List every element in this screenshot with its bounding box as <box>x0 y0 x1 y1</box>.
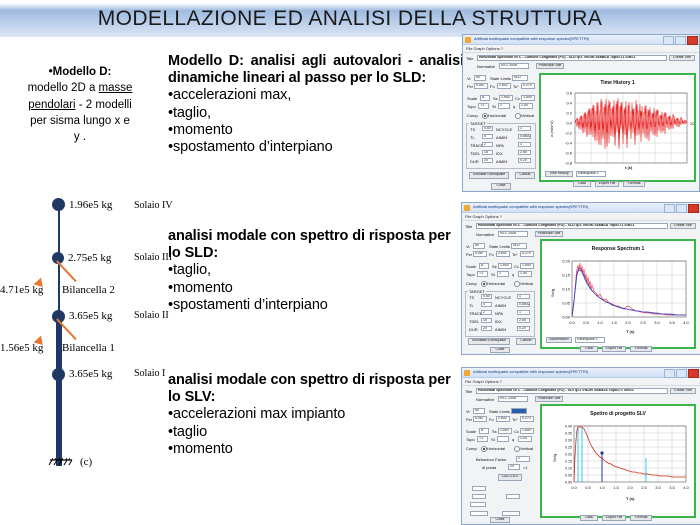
svg-text:4.0: 4.0 <box>683 320 689 325</box>
svg-text:1.0: 1.0 <box>597 320 603 325</box>
w1-param-1-input2[interactable]: 0.8502 <box>518 134 531 139</box>
w3-ss-input[interactable]: 1.500 <box>498 428 512 434</box>
w2-scale-label: Scale <box>466 264 476 269</box>
w2-formula-button[interactable]: Formula <box>630 346 652 352</box>
w1-title-field[interactable]: Horizontal Spectrum NTC - Comune Longhia… <box>477 55 667 61</box>
w1-ss-input[interactable]: 1.500 <box>499 95 513 101</box>
w3-fo-label: Fo <box>489 417 494 422</box>
w1-vr-label: Vr <box>467 76 471 81</box>
diagram-caption: (c) <box>80 456 92 468</box>
left-intro-line2-underlined: masse <box>99 82 133 94</box>
w1-param-4-label: DUR <box>470 159 479 164</box>
w3-formula-button[interactable]: Formula <box>630 515 652 521</box>
w1-export-button[interactable]: Export File <box>595 181 619 187</box>
mass-node-1 <box>52 368 65 381</box>
w3-tcstar-input[interactable]: 0.270 <box>520 416 534 422</box>
w2-param-2-input[interactable]: 2 <box>481 310 492 315</box>
block3-item-2: •taglio <box>168 424 464 441</box>
maximize-icon[interactable] <box>676 204 687 213</box>
w1-protection-site-button[interactable]: Protection Site <box>536 63 564 69</box>
w2-chart-plot: 0.200.15 0.100.050.00 0.00.51.0 1.52.02.… <box>542 241 694 347</box>
svg-text:0.15: 0.15 <box>565 459 572 463</box>
w1-state-limits-label: State Limits <box>490 76 511 81</box>
w1-param-2-input[interactable]: 2 <box>482 142 493 147</box>
w2-chart-mode-button[interactable]: Acceleration <box>546 337 572 343</box>
column-lower <box>56 314 62 466</box>
w3-topo-select[interactable]: T1 <box>477 436 488 442</box>
w1-param-0-input2[interactable]: 1 <box>518 126 531 131</box>
maximize-icon[interactable] <box>675 36 686 45</box>
w1-q-input[interactable]: 1.00 <box>519 103 533 109</box>
block2-item-2: •momento <box>168 280 460 297</box>
w3-body: Title Horizontal Spectrum NTC - Comune L… <box>462 386 700 523</box>
pendulum-mass-1: 1.56e5 kg <box>0 342 43 354</box>
w1-ag-input[interactable]: 0.067 <box>474 83 488 89</box>
block1-item-1: •accelerazioni max, <box>168 87 464 104</box>
minimize-icon[interactable] <box>664 369 675 378</box>
w2-tcstar-input[interactable]: 0.270 <box>520 251 534 257</box>
w2-x-axis-label: T (s) <box>626 329 634 334</box>
w1-topo-select[interactable]: T1 <box>478 103 489 109</box>
w1-menu-bar[interactable]: File Graph Options ? <box>463 45 699 53</box>
w3-chart-frame: Spettro di progetto SLV <box>540 404 696 518</box>
pendulum-name-2: Bilancella 2 <box>62 284 115 296</box>
w2-param-3-label: TDEL <box>469 319 479 324</box>
w3-create-title-button[interactable]: Create Title <box>670 388 696 394</box>
w2-param-4-input2[interactable]: 0.20 <box>517 326 530 331</box>
w1-param-4-input2[interactable]: 0.20 <box>518 158 531 163</box>
w3-y-axis-label: Se/g <box>552 454 557 462</box>
w1-chart-mode-button[interactable]: Time History <box>545 171 573 177</box>
w1-x-axis-label: t (s) <box>625 165 632 170</box>
w3-st-input[interactable] <box>497 436 509 442</box>
w2-vr-input[interactable]: 50 <box>473 243 485 249</box>
w3-extra-input-4[interactable] <box>470 502 486 507</box>
w1-title-text: Artificial earthquake compatible with re… <box>474 36 589 41</box>
w2-state-limits-label: State Limits <box>489 244 510 249</box>
w3-st-label: St <box>491 437 495 442</box>
svg-text:3.0: 3.0 <box>654 320 660 325</box>
w1-cancel-button[interactable]: Cancel <box>515 172 535 179</box>
w1-chart-frame: Time History 1 0.60.40.2 <box>539 73 696 182</box>
w1-normative-select[interactable]: NTC 2008 <box>499 63 529 69</box>
w3-export-button[interactable]: Export File <box>602 515 626 521</box>
w3-check-input[interactable]: 20 <box>508 464 520 470</box>
w1-param-4-input[interactable]: 20 <box>482 158 493 163</box>
pendulum-name-1: Bilancella 1 <box>62 342 115 354</box>
block3-item-1: •accelerazioni max impianto <box>168 406 464 423</box>
left-intro-line1: •Modello D: <box>4 64 156 80</box>
w2-tcstar-label: Tc* <box>512 252 518 257</box>
w3-extra-input-5[interactable] <box>470 511 488 516</box>
w2-chart-series-select[interactable]: Earthquake 1 <box>575 337 605 343</box>
svg-text:0.0: 0.0 <box>569 320 575 325</box>
w3-window-controls[interactable] <box>664 369 699 378</box>
app-icon <box>464 205 470 211</box>
w2-comp-vertical-label: Vertical <box>520 281 533 286</box>
w2-param-4-label2: AIMIN <box>495 327 506 332</box>
w2-cancel-button[interactable]: Cancel <box>516 338 536 345</box>
w3-x-axis-label: T (s) <box>626 496 634 501</box>
left-intro-line2: modello 2D a masse <box>4 80 156 96</box>
w1-state-limits-select[interactable]: SLD <box>512 75 528 81</box>
left-intro-line3-underlined: pendolari <box>28 99 75 111</box>
left-intro-line4: per sisma lungo x e <box>4 113 156 129</box>
w3-ag-label: Pvr <box>466 417 472 422</box>
w3-tcstar-label: Tc* <box>512 417 518 422</box>
w2-cc-input[interactable]: 1.500 <box>520 263 534 269</box>
w1-param-1-input[interactable]: 4 <box>482 134 493 139</box>
base-support-icon <box>48 458 74 468</box>
w1-title-bar[interactable]: Artificial earthquake compatible with re… <box>463 35 699 45</box>
w2-ss-input[interactable]: 1.500 <box>498 263 512 269</box>
analysis-block-3: analisi modale con spettro di risposta p… <box>168 372 464 458</box>
w1-fo-input[interactable]: 2.602 <box>497 83 511 89</box>
w2-param-3-input2[interactable]: 2.55 <box>517 318 530 323</box>
w1-window-controls[interactable] <box>663 36 698 45</box>
w2-ag-label: Pvr <box>466 252 472 257</box>
floor-label-2: Solaio II <box>134 310 169 321</box>
w1-scale-label: Scale <box>467 96 477 101</box>
close-icon[interactable] <box>688 369 699 378</box>
w2-fo-input[interactable]: 2.602 <box>496 251 510 257</box>
w2-window-controls[interactable] <box>664 204 699 213</box>
left-intro-line2-text: modello 2D a <box>28 82 99 94</box>
w2-normative-select[interactable]: NTC 2008 <box>498 231 528 237</box>
svg-text:0.10: 0.10 <box>565 466 572 470</box>
w1-body: Title Horizontal Spectrum NTC - Comune L… <box>463 53 699 190</box>
mass-label-2: 3.65e5 kg <box>69 310 112 322</box>
w3-close-button[interactable]: Close <box>490 517 510 523</box>
block3-heading: analisi modale con spettro di risposta p… <box>168 372 464 406</box>
w1-param-2-label2: NPA <box>496 143 504 148</box>
w1-tcstar-input[interactable]: 0.270 <box>521 83 535 89</box>
w3-menu-bar[interactable]: File Graph Options ? <box>462 378 700 386</box>
left-intro-line3-text: - 2 modelli <box>76 99 132 111</box>
w3-state-limits-select[interactable] <box>511 408 527 414</box>
svg-text:0.4: 0.4 <box>566 101 572 106</box>
window-response-spectrum[interactable]: Artificial earthquake compatible with re… <box>461 202 700 355</box>
w3-title-field-label: Title <box>465 389 472 394</box>
mass-label-1: 3.65e5 kg <box>69 368 112 380</box>
w3-ag-input[interactable]: 0.067 <box>473 416 487 422</box>
w1-param-4-label2: AIMIN <box>496 159 507 164</box>
w3-title-text: Artificial earthquake compatible with re… <box>473 369 588 374</box>
app-icon <box>465 37 471 43</box>
w3-comp-horizontal-label: Horizontal <box>487 446 505 451</box>
w1-param-0-label2: NCYCLE <box>496 127 512 132</box>
w1-close-button[interactable]: Close <box>491 183 511 190</box>
svg-text:0.15: 0.15 <box>562 273 571 278</box>
svg-text:1.5: 1.5 <box>613 485 619 490</box>
w3-q-input[interactable]: 1.00 <box>518 436 532 442</box>
block2-item-1: •taglio, <box>168 262 460 279</box>
svg-text:0.0: 0.0 <box>566 121 572 126</box>
left-intro-line5: y . <box>4 129 156 145</box>
svg-text:0.00: 0.00 <box>565 480 572 484</box>
svg-text:-0.2: -0.2 <box>565 131 573 136</box>
w3-comp-label: Comp. <box>466 446 478 451</box>
w3-extra-input-2[interactable] <box>472 494 486 499</box>
w2-q-input[interactable]: 1.00 <box>518 271 532 277</box>
w2-title-field-label: Title <box>465 224 472 229</box>
w1-x-end-tick: 20 <box>690 121 694 126</box>
w2-comp-label: Comp. <box>466 281 478 286</box>
svg-text:0.20: 0.20 <box>565 452 572 456</box>
w2-param-4-input[interactable]: 20 <box>481 326 492 331</box>
w1-scale-select[interactable]: A <box>480 95 490 101</box>
svg-text:0.25: 0.25 <box>565 445 572 449</box>
block2-heading: analisi modale con spettro di risposta p… <box>168 228 460 262</box>
block1-item-4: •spostamento d’interpiano <box>168 139 464 156</box>
page-title: MODELLAZIONE ED ANALISI DELLA STRUTTURA <box>0 7 700 31</box>
w2-data-button[interactable]: Data <box>580 346 598 352</box>
svg-text:3.5: 3.5 <box>669 485 675 490</box>
w2-topo-label: Topo <box>466 272 475 277</box>
w2-topo-select[interactable]: T1 <box>477 271 488 277</box>
w1-param-3-input2[interactable]: 2.55 <box>518 150 531 155</box>
w3-fo-input[interactable]: 2.602 <box>496 416 510 422</box>
w2-title-text: Artificial earthquake compatible with re… <box>473 204 588 209</box>
w2-normative-label: Normative <box>476 232 494 237</box>
w3-cc-input[interactable]: 1.500 <box>520 428 534 434</box>
w2-param-0-input[interactable]: 0.50 <box>481 294 492 299</box>
w3-normative-select[interactable]: NTC 2008 <box>498 396 528 402</box>
w2-ag-input[interactable]: 0.067 <box>473 251 487 257</box>
w1-cc-label: Cc <box>515 96 520 101</box>
maximize-icon[interactable] <box>676 369 687 378</box>
window-design-spectrum[interactable]: Artificial earthquake compatible with re… <box>461 367 700 525</box>
w3-check-label: di punta <box>482 465 496 470</box>
svg-text:-0.4: -0.4 <box>565 141 573 146</box>
w1-topo-label: Topo <box>467 104 476 109</box>
w3-scale-select[interactable]: A <box>479 428 489 434</box>
w3-vr-input[interactable]: 50 <box>473 408 485 414</box>
w2-param-1-label2: AIMIN <box>495 303 506 308</box>
w2-state-limits-select[interactable]: SLD <box>511 243 527 249</box>
w2-close-button[interactable]: Close <box>490 347 510 353</box>
w1-param-3-label: TDEL <box>470 151 480 156</box>
w3-comp-vertical-label: Vertical <box>520 446 533 451</box>
w2-q-label: q <box>512 272 514 277</box>
w1-param-0-label: TS <box>470 127 475 132</box>
w3-chart-plot: 0.400.350.30 0.250.200.15 0.100.050.00 0… <box>542 406 694 516</box>
w1-ag-label: Pvr <box>467 84 473 89</box>
w1-title-field-label: Title <box>466 56 473 61</box>
analysis-block-1: Modello D: analisi agli autovalori - ana… <box>168 53 464 157</box>
minimize-icon[interactable] <box>663 36 674 45</box>
w3-ss-label: Ss <box>492 429 497 434</box>
svg-text:0.5: 0.5 <box>583 320 589 325</box>
w1-param-3-label2: IDX <box>496 151 503 156</box>
w3-extra-input-3[interactable] <box>506 494 520 499</box>
w2-param-0-label2: NCYCLE <box>495 295 511 300</box>
w3-extra-input-1[interactable] <box>472 486 486 491</box>
left-intro-text: •Modello D: modello 2D a masse pendolari… <box>4 64 156 146</box>
w1-param-1-label: TL <box>470 135 475 140</box>
w2-param-0-label: TS <box>469 295 474 300</box>
w2-title-field[interactable]: Horizontal Spectrum NTC - Comune Longhia… <box>476 223 668 229</box>
svg-text:3.5: 3.5 <box>669 320 675 325</box>
minimize-icon[interactable] <box>664 204 675 213</box>
w2-param-2-input2[interactable]: 1 <box>517 310 530 315</box>
w2-export-button[interactable]: Export File <box>602 346 626 352</box>
w1-comp-label: Comp. <box>467 113 479 118</box>
w2-param-3-label2: IDX <box>495 319 502 324</box>
w1-data-button[interactable]: Data <box>573 181 591 187</box>
block1-item-2: •taglio, <box>168 105 464 122</box>
w2-cc-label: Cc <box>514 264 519 269</box>
w2-simulate-button[interactable]: Simulated Earthquake <box>468 338 510 345</box>
w2-param-1-input[interactable]: 4 <box>481 302 492 307</box>
svg-text:0.40: 0.40 <box>565 424 572 428</box>
block3-item-3: •momento <box>168 441 464 458</box>
svg-text:2.0: 2.0 <box>627 485 633 490</box>
w1-tcstar-label: Tc* <box>513 84 519 89</box>
svg-text:2.0: 2.0 <box>625 320 631 325</box>
w1-create-title-button[interactable]: Create Title <box>669 55 695 61</box>
svg-text:0.6: 0.6 <box>566 91 572 96</box>
app-icon <box>464 370 470 376</box>
close-icon[interactable] <box>688 204 699 213</box>
w2-fo-label: Fo <box>489 252 494 257</box>
w3-vr-label: Vr <box>466 409 470 414</box>
w3-q-label: q <box>512 437 514 442</box>
w3-cc-label: Cc <box>514 429 519 434</box>
w2-param-1-label: TL <box>469 303 474 308</box>
w3-state-limits-label: State Limits <box>489 409 510 414</box>
w2-menu-bar[interactable]: File Graph Options ? <box>462 213 700 221</box>
svg-text:1.5: 1.5 <box>611 320 617 325</box>
svg-text:0.0: 0.0 <box>571 485 577 490</box>
w3-protection-site-button[interactable]: Protection Site <box>535 396 563 402</box>
w1-param-2-input2[interactable]: 1 <box>518 142 531 147</box>
w2-title-bar[interactable]: Artificial earthquake compatible with re… <box>462 203 700 213</box>
w2-protection-site-button[interactable]: Protection Site <box>535 231 563 237</box>
w1-st-label: St <box>492 104 496 109</box>
w2-st-input[interactable]: 1 <box>497 271 509 277</box>
w3-title-bar[interactable]: Artificial earthquake compatible with re… <box>462 368 700 378</box>
w2-vr-label: Vr <box>466 244 470 249</box>
structural-model-diagram: (c) 1.96e5 kg 2.75e5 kg 3.65e5 kg 3.65e5… <box>0 190 175 490</box>
mass-label-3: 2.75e5 kg <box>68 252 111 264</box>
svg-text:0.35: 0.35 <box>565 431 572 435</box>
svg-text:1.0: 1.0 <box>599 485 605 490</box>
svg-text:0.00: 0.00 <box>562 315 571 320</box>
mass-label-4: 1.96e5 kg <box>69 199 112 211</box>
w2-param-1-input2[interactable]: 0.8502 <box>517 302 530 307</box>
w1-fo-label: Fo <box>490 84 495 89</box>
w1-normative-label: Normative <box>477 64 495 69</box>
svg-text:3.0: 3.0 <box>655 485 661 490</box>
w1-param-3-input[interactable]: 15 <box>482 150 493 155</box>
w1-chart-plot: 0.60.40.2 0.0-0.2-0.4 -0.6-0.8 20 <box>541 75 694 180</box>
svg-text:2.5: 2.5 <box>641 485 647 490</box>
w1-cc-input[interactable]: 1.500 <box>521 95 535 101</box>
w1-param-1-label2: AIMIN <box>496 135 507 140</box>
svg-text:0.20: 0.20 <box>562 259 571 264</box>
w1-st-input[interactable]: 1 <box>498 103 510 109</box>
floor-label-3: Solaio III <box>134 252 172 263</box>
w2-param-3-input[interactable]: 15 <box>481 318 492 323</box>
w3-check-unit: =1 <box>523 465 528 470</box>
left-intro-line3: pendolari - 2 modelli <box>4 97 156 113</box>
w2-create-title-button[interactable]: Create Title <box>670 223 696 229</box>
w2-param-0-input2[interactable]: 1 <box>517 294 530 299</box>
w1-ss-label: Ss <box>493 96 498 101</box>
w1-comp-vertical-label: Vertical <box>521 113 534 118</box>
w3-title-field[interactable]: Horizontal Spectrum NTC - Comune Longhia… <box>476 388 668 394</box>
w2-chart-frame: Response Spectrum 1 0.200.15 0.100.050.0… <box>540 239 696 349</box>
w1-comp-horizontal-label: Horizontal <box>488 113 506 118</box>
block1-item-3: •momento <box>168 122 464 139</box>
w3-extra-input-6[interactable] <box>502 511 520 516</box>
block2-item-3: •spostamenti d’interpiano <box>168 297 460 314</box>
w3-topo-label: Topo <box>466 437 475 442</box>
w2-ss-label: Ss <box>492 264 497 269</box>
w2-comp-horizontal-label: Horizontal <box>487 281 505 286</box>
svg-text:2.5: 2.5 <box>640 320 646 325</box>
w2-st-label: St <box>491 272 495 277</box>
svg-text:4.0: 4.0 <box>683 485 689 490</box>
w1-formula-button[interactable]: Formula <box>623 181 645 187</box>
close-icon[interactable] <box>687 36 698 45</box>
w1-simulate-button[interactable]: Simulate Earthquake <box>469 172 509 179</box>
w3-calc-button[interactable]: CALCOLO <box>498 474 522 481</box>
w1-y-axis-label: a (m/s^2) <box>549 120 554 137</box>
w2-param-4-label: DUR <box>469 327 478 332</box>
w3-behaviour-label: Behaviour Factor <box>476 457 506 462</box>
analysis-block-2: analisi modale con spettro di risposta p… <box>168 228 460 314</box>
w3-normative-label: Normative <box>476 397 494 402</box>
w1-vr-input[interactable]: 50 <box>474 75 486 81</box>
svg-text:0.10: 0.10 <box>562 287 571 292</box>
svg-text:0.2: 0.2 <box>566 111 572 116</box>
floor-label-4: Solaio IV <box>134 200 173 211</box>
w3-data-button[interactable]: Data <box>580 515 598 521</box>
pendulum-mass-2: 4.71e5 kg <box>0 284 43 296</box>
w2-scale-select[interactable]: A <box>479 263 489 269</box>
svg-text:0.05: 0.05 <box>565 473 572 477</box>
w2-param-2-label2: NPA <box>495 311 503 316</box>
svg-text:0.5: 0.5 <box>585 485 591 490</box>
mass-node-4 <box>52 198 65 211</box>
w2-body: Title Horizontal Spectrum NTC - Comune L… <box>462 221 700 353</box>
w1-q-label: q <box>513 104 515 109</box>
floor-label-1: Solaio I <box>134 368 165 379</box>
w3-behaviour-input[interactable]: 1 <box>516 456 530 462</box>
svg-text:0.30: 0.30 <box>565 438 572 442</box>
svg-text:-0.8: -0.8 <box>565 161 573 166</box>
w1-param-0-input[interactable]: 0.50 <box>482 126 493 131</box>
svg-text:-0.6: -0.6 <box>565 151 573 156</box>
w2-y-axis-label: Se/g <box>550 289 555 297</box>
window-time-history[interactable]: Artificial earthquake compatible with re… <box>462 34 700 192</box>
w3-scale-label: Scale <box>466 429 476 434</box>
block1-heading: Modello D: analisi agli autovalori - ana… <box>168 53 464 87</box>
w1-chart-series-select[interactable]: Earthquake 1 <box>576 171 606 177</box>
svg-text:0.05: 0.05 <box>562 301 571 306</box>
